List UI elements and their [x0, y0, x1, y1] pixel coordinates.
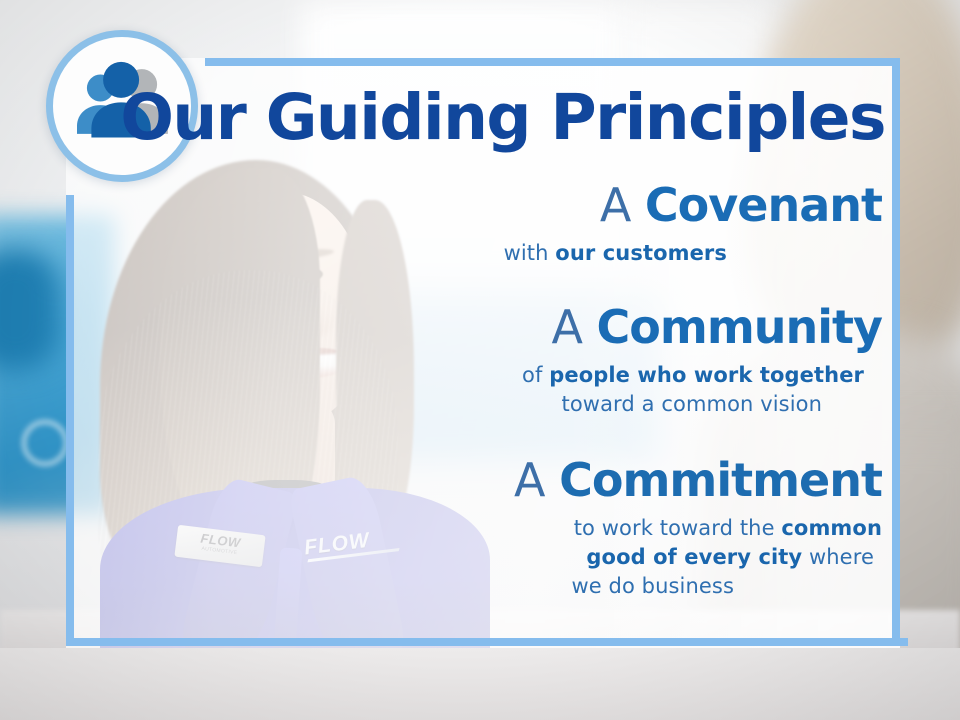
principle-2-keyword: Community: [597, 300, 882, 354]
principle-3-sub-2-b: where: [802, 545, 874, 569]
desk-front-edge: [0, 648, 960, 720]
principle-1: A Covenant with our customers: [66, 180, 900, 267]
principle-2-sub-1: of people who work together: [66, 362, 882, 389]
principle-3-sub-1-a: to work toward the: [574, 516, 782, 540]
principle-3-article: A: [514, 453, 559, 507]
blurred-brand-emblem: [22, 420, 68, 466]
principle-3-sub-3: we do business: [66, 573, 882, 600]
principle-1-sub-1-b: our customers: [555, 241, 727, 265]
principle-3-sub-1: to work toward the common: [66, 515, 882, 542]
principle-2: A Community of people who work together …: [66, 302, 900, 418]
principle-2-sub-2-a: toward a common vision: [562, 392, 822, 416]
page-title: Our Guiding Principles: [66, 86, 900, 150]
principle-3-keyword: Commitment: [559, 453, 882, 507]
principle-1-sub-1: with our customers: [66, 240, 882, 267]
principle-2-sub-1-b: people who work together: [549, 363, 864, 387]
principle-2-sub-1-a: of: [522, 363, 549, 387]
principle-3-sub-3-a: we do business: [571, 574, 734, 598]
guiding-principles-graphic: FLOW AUTOMOTIVE FLOW: [0, 0, 960, 720]
principle-2-title: A Community: [66, 302, 882, 354]
principle-3: A Commitment to work toward the common g…: [66, 455, 900, 600]
principle-3-sub-2-a: good of every city: [586, 545, 802, 569]
blurred-vehicle-shadow: [0, 250, 60, 370]
principle-1-title: A Covenant: [66, 180, 882, 232]
principle-2-sub-2: toward a common vision: [66, 391, 882, 418]
principle-2-article: A: [551, 300, 596, 354]
principle-3-sub-1-b: common: [781, 516, 882, 540]
principle-1-article: A: [600, 178, 645, 232]
copy-block: Our Guiding Principles A Covenant with o…: [66, 58, 900, 646]
principle-3-sub-2: good of every city where: [66, 544, 882, 571]
principle-3-title: A Commitment: [66, 455, 882, 507]
principle-1-keyword: Covenant: [645, 178, 882, 232]
principle-1-sub-1-a: with: [504, 241, 556, 265]
